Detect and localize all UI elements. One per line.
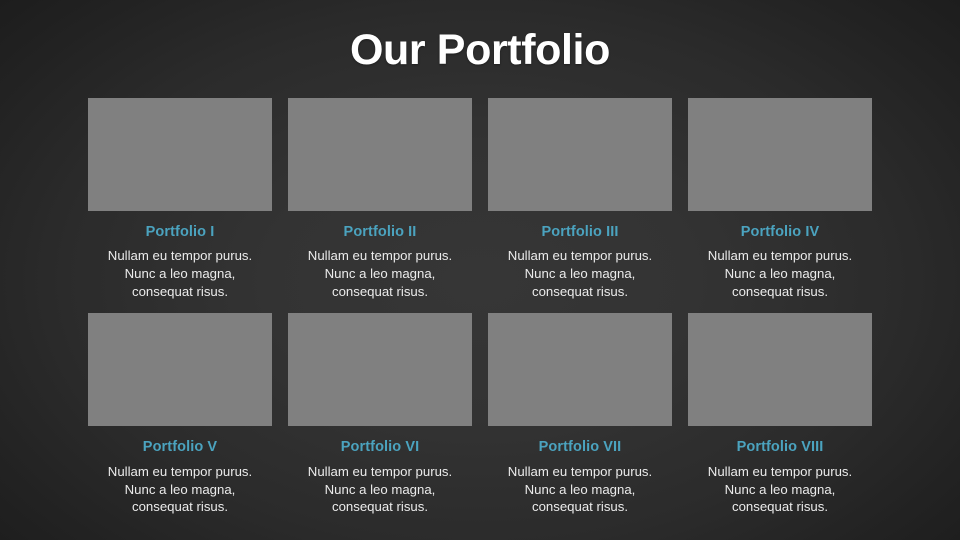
portfolio-card-body: Nullam eu tempor purus. Nunc a leo magna… xyxy=(288,247,472,300)
portfolio-card[interactable]: Portfolio VII Nullam eu tempor purus. Nu… xyxy=(488,313,672,515)
portfolio-image-placeholder[interactable] xyxy=(88,313,272,426)
portfolio-card[interactable]: Portfolio VI Nullam eu tempor purus. Nun… xyxy=(288,313,472,515)
portfolio-card-title: Portfolio I xyxy=(146,224,215,241)
portfolio-card-title: Portfolio V xyxy=(143,439,217,456)
portfolio-card-title: Portfolio VIII xyxy=(737,439,824,456)
portfolio-card[interactable]: Portfolio II Nullam eu tempor purus. Nun… xyxy=(288,98,472,300)
portfolio-card-body: Nullam eu tempor purus. Nunc a leo magna… xyxy=(488,463,672,516)
portfolio-image-placeholder[interactable] xyxy=(288,98,472,211)
portfolio-card-title: Portfolio III xyxy=(541,224,618,241)
portfolio-image-placeholder[interactable] xyxy=(488,313,672,426)
portfolio-card[interactable]: Portfolio III Nullam eu tempor purus. Nu… xyxy=(488,98,672,300)
portfolio-card[interactable]: Portfolio I Nullam eu tempor purus. Nunc… xyxy=(88,98,272,300)
portfolio-card-title: Portfolio VI xyxy=(341,439,420,456)
portfolio-card-title: Portfolio II xyxy=(344,224,417,241)
portfolio-card[interactable]: Portfolio V Nullam eu tempor purus. Nunc… xyxy=(88,313,272,515)
portfolio-card-body: Nullam eu tempor purus. Nunc a leo magna… xyxy=(688,463,872,516)
portfolio-image-placeholder[interactable] xyxy=(688,313,872,426)
portfolio-card[interactable]: Portfolio VIII Nullam eu tempor purus. N… xyxy=(688,313,872,515)
portfolio-card-body: Nullam eu tempor purus. Nunc a leo magna… xyxy=(88,247,272,300)
portfolio-card-title: Portfolio VII xyxy=(539,439,622,456)
portfolio-card-body: Nullam eu tempor purus. Nunc a leo magna… xyxy=(288,463,472,516)
portfolio-slide: Our Portfolio Portfolio I Nullam eu temp… xyxy=(0,0,960,540)
page-title: Our Portfolio xyxy=(350,28,610,73)
portfolio-image-placeholder[interactable] xyxy=(688,98,872,211)
portfolio-card-body: Nullam eu tempor purus. Nunc a leo magna… xyxy=(488,247,672,300)
portfolio-card-body: Nullam eu tempor purus. Nunc a leo magna… xyxy=(688,247,872,300)
portfolio-image-placeholder[interactable] xyxy=(488,98,672,211)
slide-header: Our Portfolio xyxy=(0,28,960,73)
portfolio-card-body: Nullam eu tempor purus. Nunc a leo magna… xyxy=(88,463,272,516)
portfolio-card[interactable]: Portfolio IV Nullam eu tempor purus. Nun… xyxy=(688,98,872,300)
portfolio-image-placeholder[interactable] xyxy=(288,313,472,426)
portfolio-card-title: Portfolio IV xyxy=(741,224,820,241)
portfolio-grid: Portfolio I Nullam eu tempor purus. Nunc… xyxy=(88,98,872,516)
portfolio-image-placeholder[interactable] xyxy=(88,98,272,211)
